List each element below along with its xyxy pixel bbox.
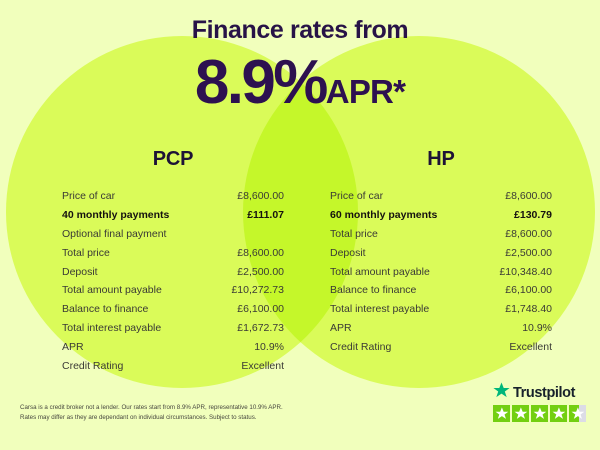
- trustpilot-star-icon: [512, 405, 529, 422]
- plan-row-value: £1,748.40: [505, 303, 552, 316]
- plan-row: APR10.9%: [330, 319, 552, 338]
- plan-row: Credit RatingExcellent: [330, 338, 552, 357]
- plan-row-label: Total price: [330, 228, 378, 241]
- plan-row: APR10.9%: [62, 338, 284, 357]
- plan-row-label: Total amount payable: [330, 266, 430, 279]
- plan-row-value: 10.9%: [254, 341, 284, 354]
- plan-row: Total amount payable£10,272.73: [62, 282, 284, 301]
- plan-column-pcp: PCP Price of car£8,600.0040 monthly paym…: [62, 148, 284, 376]
- trustpilot-star-icon: [493, 382, 510, 404]
- plan-row: 40 monthly payments£111.07: [62, 206, 284, 225]
- plan-row-label: Credit Rating: [330, 341, 391, 354]
- plan-row: 60 monthly payments£130.79: [330, 206, 552, 225]
- plan-row-value: £8,600.00: [505, 190, 552, 203]
- disclaimer-text: Carsa is a credit broker not a lender. O…: [20, 403, 330, 423]
- plan-row-label: Deposit: [330, 247, 366, 260]
- page-title: Finance rates from: [0, 16, 600, 45]
- trustpilot-star-icon: [550, 405, 567, 422]
- trustpilot-widget[interactable]: Trustpilot: [493, 383, 587, 422]
- plan-row: Credit RatingExcellent: [62, 357, 284, 376]
- plan-row-value: £1,672.73: [237, 322, 284, 335]
- plan-row-label: Credit Rating: [62, 360, 123, 373]
- finance-rates-banner: Finance rates from 8.9%APR* PCP Price of…: [0, 0, 600, 450]
- plan-row: Balance to finance£6,100.00: [330, 282, 552, 301]
- plan-row-label: Deposit: [62, 266, 98, 279]
- trustpilot-rating-stars: [493, 405, 587, 422]
- plan-row: Total price£8,600.00: [62, 244, 284, 263]
- plan-row-label: APR: [330, 322, 352, 335]
- plan-row-label: Total interest payable: [62, 322, 161, 335]
- trustpilot-brand: Trustpilot: [493, 383, 587, 402]
- plan-row: Total price£8,600.00: [330, 225, 552, 244]
- plan-row-value: £6,100.00: [237, 303, 284, 316]
- plan-row-label: Price of car: [330, 190, 383, 203]
- trustpilot-star-icon: [531, 405, 548, 422]
- plan-row-value: £8,600.00: [237, 247, 284, 260]
- plan-title-hp: HP: [330, 148, 552, 171]
- plan-rows-pcp: Price of car£8,600.0040 monthly payments…: [62, 187, 284, 376]
- plan-row-value: £111.07: [247, 209, 284, 222]
- plan-row-value: £2,500.00: [505, 247, 552, 260]
- plan-row-label: Total amount payable: [62, 284, 162, 297]
- plan-row-label: 60 monthly payments: [330, 209, 437, 222]
- plan-row-label: 40 monthly payments: [62, 209, 169, 222]
- plan-row-value: £8,600.00: [237, 190, 284, 203]
- plan-row-label: Balance to finance: [330, 284, 416, 297]
- plan-row: Total interest payable£1,748.40: [330, 300, 552, 319]
- plan-row-value: Excellent: [509, 341, 552, 354]
- plan-row: Price of car£8,600.00: [62, 187, 284, 206]
- plan-rows-hp: Price of car£8,600.0060 monthly payments…: [330, 187, 552, 357]
- rate-suffix: APR*: [326, 73, 405, 110]
- plan-row-value: £8,600.00: [505, 228, 552, 241]
- plan-row: Price of car£8,600.00: [330, 187, 552, 206]
- plan-row-value: £2,500.00: [237, 266, 284, 279]
- plan-row: Optional final payment: [62, 225, 284, 244]
- trustpilot-star-icon: [569, 405, 586, 422]
- plan-row-label: Balance to finance: [62, 303, 148, 316]
- plan-row-label: Optional final payment: [62, 228, 166, 241]
- plan-row: Deposit£2,500.00: [62, 263, 284, 282]
- plan-row-label: Total interest payable: [330, 303, 429, 316]
- plan-row-value: Excellent: [241, 360, 284, 373]
- disclaimer-line-2: Rates may differ as they are dependant o…: [20, 413, 330, 423]
- plan-row: Total interest payable£1,672.73: [62, 319, 284, 338]
- headline-rate: 8.9%APR*: [0, 52, 600, 114]
- plan-row-value: £10,348.40: [499, 266, 552, 279]
- trustpilot-wordmark: Trustpilot: [513, 385, 575, 401]
- plan-row-value: £130.79: [514, 209, 552, 222]
- disclaimer-line-1: Carsa is a credit broker not a lender. O…: [20, 403, 330, 413]
- plan-title-pcp: PCP: [62, 148, 284, 171]
- plan-row: Total amount payable£10,348.40: [330, 263, 552, 282]
- rate-value: 8.9%: [195, 48, 326, 117]
- plan-row-label: APR: [62, 341, 84, 354]
- plan-row-value: £10,272.73: [231, 284, 284, 297]
- plan-row-value: £6,100.00: [505, 284, 552, 297]
- plan-row-label: Price of car: [62, 190, 115, 203]
- plan-row: Deposit£2,500.00: [330, 244, 552, 263]
- plan-row-value: 10.9%: [522, 322, 552, 335]
- trustpilot-star-icon: [493, 405, 510, 422]
- plan-row-label: Total price: [62, 247, 110, 260]
- plan-column-hp: HP Price of car£8,600.0060 monthly payme…: [330, 148, 552, 357]
- plan-row: Balance to finance£6,100.00: [62, 300, 284, 319]
